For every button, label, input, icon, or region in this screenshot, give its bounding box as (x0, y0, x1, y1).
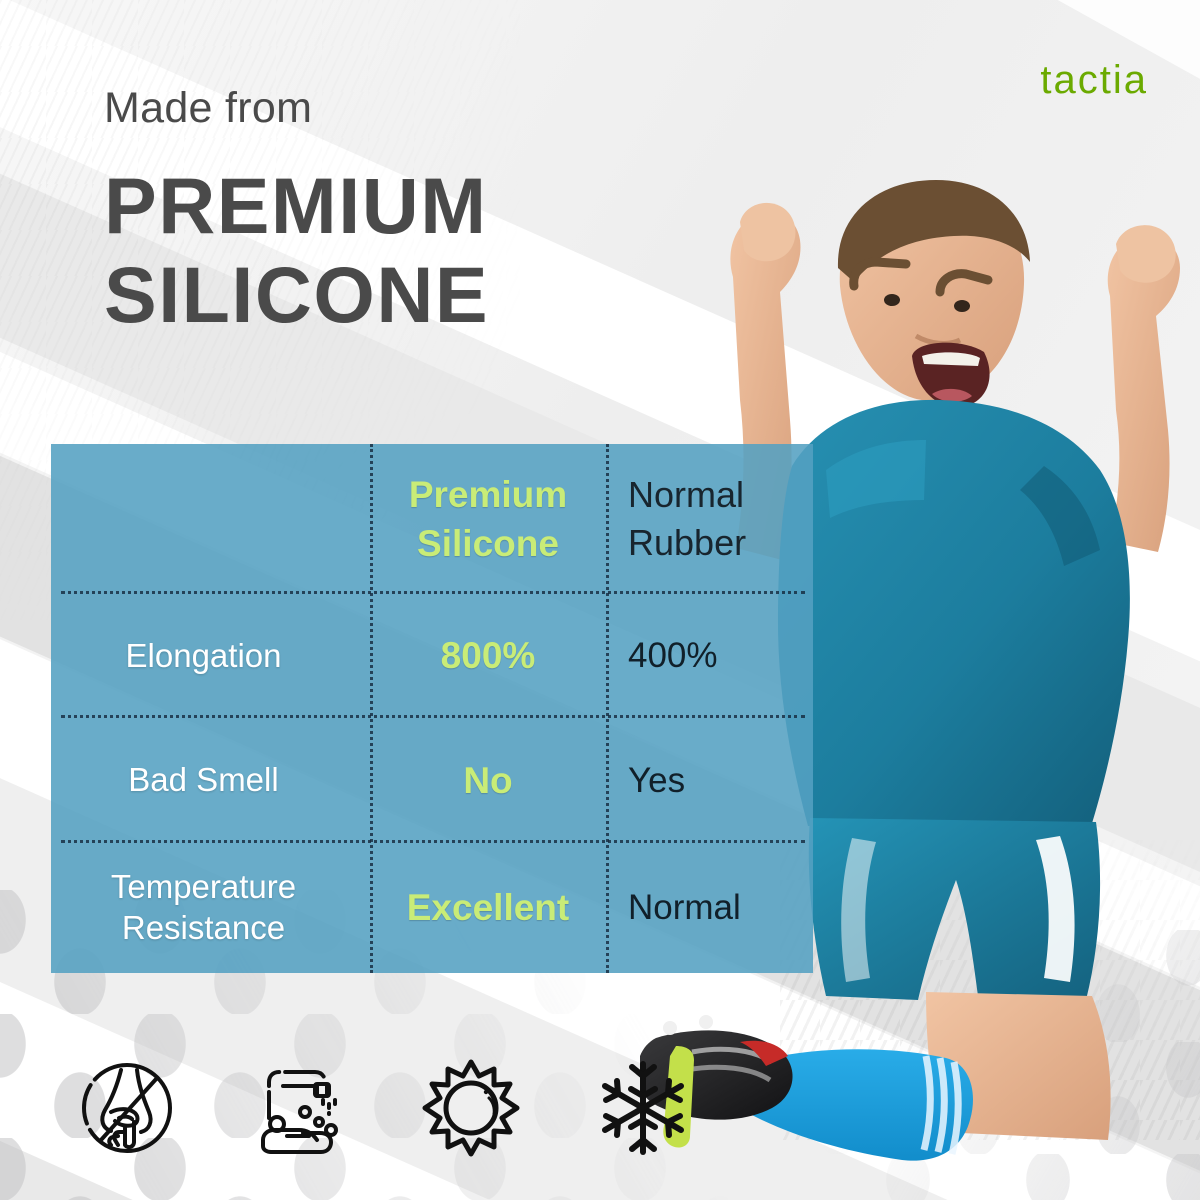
feature-icon-row (72, 1052, 698, 1164)
row-premium-temperature-resistance: Excellent (370, 887, 606, 929)
table-header-row: Premium Silicone Normal Rubber (51, 444, 813, 594)
row-normal-bad-smell: Yes (606, 761, 813, 801)
row-label-bad-smell: Bad Smell (51, 760, 370, 801)
athlete-shorts (809, 818, 1100, 1000)
comparison-table: Premium Silicone Normal Rubber Elongatio… (51, 444, 813, 973)
infographic-canvas: tactia Made from PREMIUM SILICONE Premiu… (0, 0, 1200, 1200)
headline-block: Made from PREMIUM SILICONE (104, 86, 724, 342)
table-row: Bad Smell No Yes (51, 718, 813, 843)
sun-icon (416, 1052, 526, 1164)
raised-arm-right (1108, 225, 1180, 552)
header-premium-line2: Silicone (370, 519, 606, 568)
row-normal-temperature-resistance: Normal (606, 888, 813, 928)
snowflake-icon (588, 1052, 698, 1164)
athlete-head (838, 180, 1030, 407)
headline-kicker: Made from (104, 86, 724, 131)
header-normal-line1: Normal (628, 471, 813, 519)
row-label-temperature-resistance: Temperature Resistance (51, 867, 370, 949)
no-smell-icon (72, 1052, 182, 1164)
row-premium-elongation: 800% (370, 635, 606, 677)
header-normal-line2: Rubber (628, 519, 813, 567)
row-label-elongation: Elongation (51, 636, 370, 677)
headline-line-2: SILICONE (104, 248, 724, 341)
washable-icon (244, 1052, 354, 1164)
header-cell-premium: Premium Silicone (370, 470, 606, 568)
header-cell-normal: Normal Rubber (606, 471, 813, 567)
athlete-torso (778, 400, 1130, 830)
table-row: Temperature Resistance Excellent Normal (51, 843, 813, 973)
header-premium-line1: Premium (370, 470, 606, 519)
headline-line-1: PREMIUM (104, 159, 724, 252)
table-row: Elongation 800% 400% (51, 594, 813, 718)
brand-logo: tactia (1040, 58, 1148, 103)
row-premium-bad-smell: No (370, 760, 606, 802)
row-normal-elongation: 400% (606, 636, 813, 676)
